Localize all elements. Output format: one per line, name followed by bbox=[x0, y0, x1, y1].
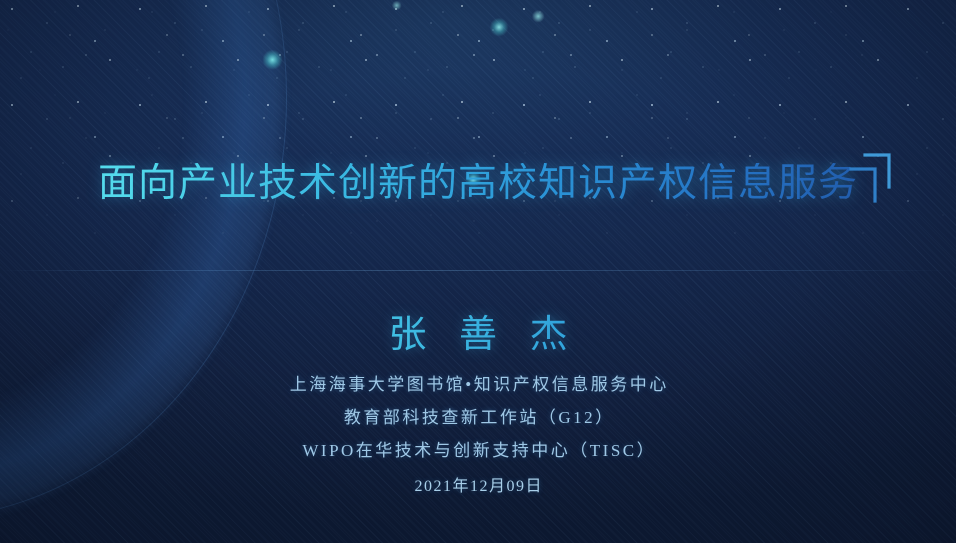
affiliation-line: 教育部科技查新工作站（G12） bbox=[0, 401, 956, 434]
affiliation-line: WIPO在华技术与创新支持中心（TISC） bbox=[0, 434, 956, 467]
corner-bracket-icon bbox=[845, 143, 901, 209]
affiliation-block: 上海海事大学图书馆•知识产权信息服务中心 教育部科技查新工作站（G12） WIP… bbox=[0, 368, 956, 504]
slide-content: 面向产业技术创新的高校知识产权信息服务 张 善 杰 上海海事大学图书馆•知识产权… bbox=[0, 0, 956, 543]
presentation-date: 2021年12月09日 bbox=[0, 470, 956, 504]
affiliation-line: 上海海事大学图书馆•知识产权信息服务中心 bbox=[0, 368, 956, 401]
speaker-name: 张 善 杰 bbox=[0, 303, 956, 358]
presentation-slide: 面向产业技术创新的高校知识产权信息服务 张 善 杰 上海海事大学图书馆•知识产权… bbox=[0, 0, 956, 543]
page-title: 面向产业技术创新的高校知识产权信息服务 bbox=[0, 163, 956, 205]
